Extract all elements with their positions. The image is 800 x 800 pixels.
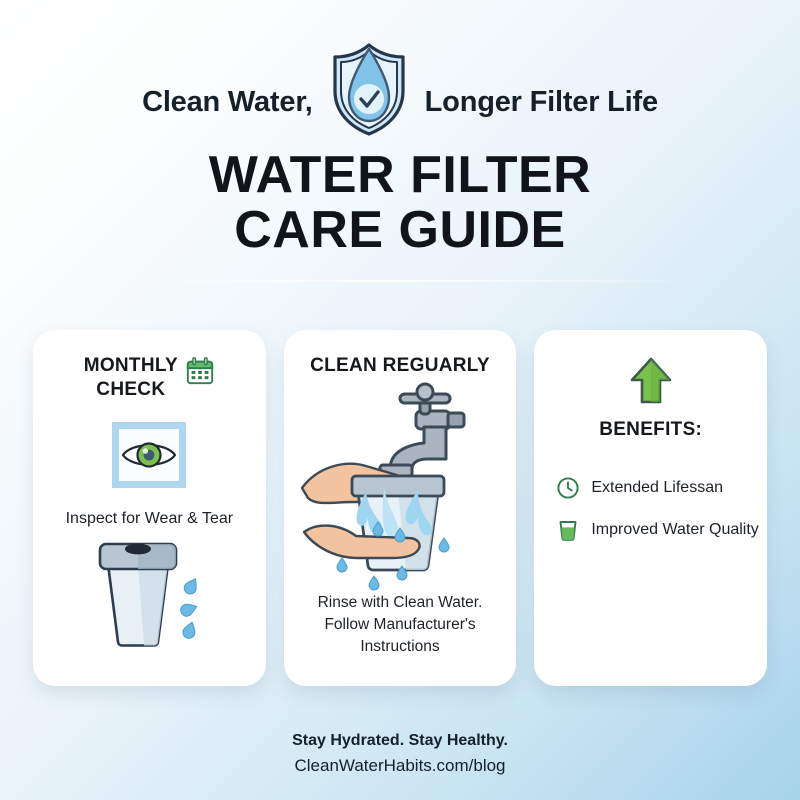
card2-caption-line2: Follow Manufacturer's bbox=[324, 616, 475, 633]
tagline-right: Longer Filter Life bbox=[425, 86, 658, 119]
card2-title: CLEAN REGUARLY bbox=[294, 354, 507, 378]
calendar-icon bbox=[185, 356, 215, 386]
eye-icon bbox=[121, 438, 177, 472]
card1-header: MONTHLY CHECK bbox=[33, 354, 266, 402]
card2-caption-line1: Rinse with Clean Water. bbox=[318, 594, 483, 611]
card-clean-regularly[interactable]: CLEAN REGUARLY bbox=[284, 330, 517, 686]
card1-title-line2: CHECK bbox=[96, 379, 165, 400]
up-arrow-icon bbox=[629, 356, 673, 406]
tagline-row: Clean Water, Longer Filter Life bbox=[0, 62, 800, 142]
cards-row: MONTHLY CHECK bbox=[33, 330, 767, 686]
title-line-1: WATER FILTER bbox=[209, 146, 591, 204]
card3-header bbox=[534, 356, 767, 406]
benefit-item: Improved Water Quality bbox=[556, 518, 767, 542]
title-line-2: CARE GUIDE bbox=[0, 203, 800, 258]
footer-url[interactable]: CleanWaterHabits.com/blog bbox=[0, 756, 800, 776]
card1-title-line1: MONTHLY bbox=[84, 355, 178, 376]
card1-caption: Inspect for Wear & Tear bbox=[33, 510, 266, 528]
benefit-label: Extended Lifessan bbox=[591, 479, 723, 497]
card2-caption: Rinse with Clean Water. Follow Manufactu… bbox=[296, 592, 505, 658]
benefit-label: Improved Water Quality bbox=[591, 521, 758, 539]
footer: Stay Hydrated. Stay Healthy. CleanWaterH… bbox=[0, 732, 800, 776]
card-benefits[interactable]: BENEFITS: Extended Lifessan Improved Wat… bbox=[534, 330, 767, 686]
card2-header: CLEAN REGUARLY bbox=[284, 354, 517, 378]
eye-icon-inner bbox=[119, 429, 179, 481]
card-monthly-check[interactable]: MONTHLY CHECK bbox=[33, 330, 266, 686]
card3-title: BENEFITS: bbox=[534, 418, 767, 442]
eye-icon-frame bbox=[112, 422, 186, 488]
benefit-list: Extended Lifessan Improved Water Quality bbox=[534, 476, 767, 542]
card2-caption-line3: Instructions bbox=[360, 638, 439, 655]
clock-icon bbox=[556, 476, 580, 500]
tagline-left: Clean Water, bbox=[142, 86, 313, 119]
title-divider bbox=[120, 280, 680, 282]
infographic-poster: Clean Water, Longer Filter Life WATER FI… bbox=[0, 0, 800, 800]
benefit-item: Extended Lifessan bbox=[556, 476, 767, 500]
faucet-washing-filter-icon bbox=[296, 380, 504, 598]
water-filter-cartridge-icon bbox=[74, 530, 224, 658]
footer-tagline: Stay Hydrated. Stay Healthy. bbox=[0, 732, 800, 750]
water-glass-icon bbox=[556, 518, 580, 542]
card1-title: MONTHLY CHECK bbox=[84, 354, 178, 402]
page-title: WATER FILTER CARE GUIDE bbox=[0, 148, 800, 258]
shield-water-drop-check-icon bbox=[327, 41, 411, 137]
